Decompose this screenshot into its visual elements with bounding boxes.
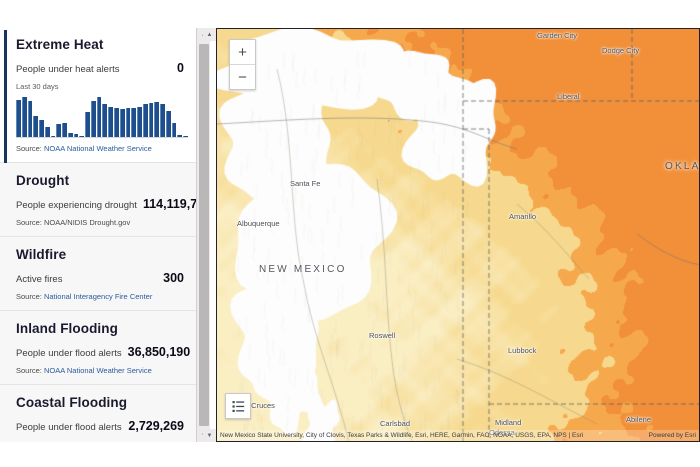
metric-value-wildfire: 300 [163, 271, 184, 285]
chart-bar [183, 136, 188, 137]
metric-value-heat: 0 [177, 61, 184, 75]
page-scroll-down-arrow-icon[interactable]: ▼ [203, 429, 216, 442]
chart-bar [97, 97, 102, 137]
metric-row-inland-flooding: People under flood alerts 36,850,190 [16, 345, 184, 359]
chart-bar [108, 107, 113, 137]
page-scroll-up-arrow-icon[interactable]: ▲ [203, 28, 216, 41]
sidebar-card-extreme-heat[interactable]: Extreme Heat People under heat alerts 0 … [0, 28, 196, 163]
metric-value-inland-flooding: 36,850,190 [128, 345, 191, 359]
chart-bar [85, 112, 90, 137]
chart-bar [131, 108, 136, 137]
source-link-nifc[interactable]: National Interagency Fire Center [44, 292, 152, 301]
source-prefix: Source: [16, 144, 44, 153]
chart-bar [172, 123, 177, 137]
map-zoom-controls[interactable]: + − [229, 39, 256, 90]
chart-bar [160, 104, 165, 137]
zoom-in-button[interactable]: + [230, 40, 255, 65]
metric-label-heat: People under heat alerts [16, 64, 120, 75]
sidebar-card-drought[interactable]: Drought People experiencing drought 114,… [0, 163, 196, 237]
scrollbar-thumb[interactable] [199, 44, 209, 426]
map-attribution-bar: New Mexico State University, City of Clo… [217, 430, 699, 441]
metric-label-drought: People experiencing drought [16, 200, 137, 211]
sidebar-scrollbar[interactable]: ▲ ▼ [196, 28, 210, 442]
hazard-map[interactable]: + − New Mexico State University, City of… [216, 28, 700, 442]
source-inland-flooding: Source: NOAA National Weather Service [16, 366, 184, 375]
metric-row-heat: People under heat alerts 0 [16, 61, 184, 75]
chart-bar [22, 97, 27, 137]
chart-bar [177, 135, 182, 137]
chart-bar [74, 134, 79, 137]
chart-bar [166, 111, 171, 137]
source-name-drought: NOAA/NIDIS Drought.gov [44, 218, 130, 227]
chart-bar [39, 120, 44, 137]
card-title-coastal-flooding: Coastal Flooding [16, 395, 184, 410]
chart-bar [114, 108, 119, 137]
source-link-nws-flood[interactable]: NOAA National Weather Service [44, 366, 152, 375]
metric-label-coastal-flooding: People under flood alerts [16, 422, 122, 433]
attribution-sources: New Mexico State University, City of Clo… [220, 432, 583, 439]
source-prefix: Source: [16, 366, 44, 375]
card-title-extreme-heat: Extreme Heat [16, 37, 184, 52]
sidebar-card-coastal-flooding[interactable]: Coastal Flooding People under flood aler… [0, 385, 196, 442]
chart-bar [154, 102, 159, 137]
source-drought: Source: NOAA/NIDIS Drought.gov [16, 218, 184, 227]
map-state-label: NEW MEXICO [259, 264, 347, 275]
metric-row-wildfire: Active fires 300 [16, 271, 184, 285]
map-state-label: OKLA [665, 161, 700, 172]
chart-bar [126, 108, 131, 137]
chart-bar [51, 136, 56, 137]
layers-list-icon [232, 400, 245, 413]
chart-bar [120, 109, 125, 137]
chart-bar [137, 107, 142, 137]
chart-bar [16, 100, 21, 137]
source-prefix: Source: [16, 218, 44, 227]
chart-bar [68, 133, 73, 137]
metric-label-inland-flooding: People under flood alerts [16, 348, 122, 359]
chart-bar [79, 136, 84, 137]
chart-bar [143, 104, 148, 137]
sidebar-card-wildfire[interactable]: Wildfire Active fires 300 Source: Nation… [0, 237, 196, 311]
source-extreme-heat: Source: NOAA National Weather Service [16, 144, 184, 153]
chart-bar [45, 127, 50, 138]
card-title-wildfire: Wildfire [16, 247, 184, 262]
source-prefix: Source: [16, 292, 44, 301]
metric-row-coastal-flooding: People under flood alerts 2,729,269 [16, 419, 184, 433]
chart-bar [56, 124, 61, 137]
metric-value-coastal-flooding: 2,729,269 [128, 419, 184, 433]
map-legend-button[interactable] [225, 393, 251, 419]
map-raster-layer [217, 29, 700, 442]
chart-bar [62, 123, 67, 137]
metric-label-wildfire: Active fires [16, 274, 62, 285]
chart-sublabel-last30days: Last 30 days [16, 82, 184, 91]
chart-bar [149, 103, 154, 137]
metric-value-drought: 114,119,787 [143, 197, 196, 211]
metric-row-drought: People experiencing drought 114,119,787 [16, 197, 184, 211]
card-title-drought: Drought [16, 173, 184, 188]
chart-bar [33, 116, 38, 137]
source-wildfire: Source: National Interagency Fire Center [16, 292, 184, 301]
heat-alerts-bar-chart [16, 95, 188, 138]
powered-by-esri: Powered by Esri [649, 432, 696, 439]
card-title-inland-flooding: Inland Flooding [16, 321, 184, 336]
chart-bar [91, 101, 96, 137]
source-link-nws[interactable]: NOAA National Weather Service [44, 144, 152, 153]
hazard-sidebar[interactable]: Extreme Heat People under heat alerts 0 … [0, 28, 196, 442]
zoom-out-button[interactable]: − [230, 65, 255, 89]
chart-bar [28, 101, 33, 137]
sidebar-card-inland-flooding[interactable]: Inland Flooding People under flood alert… [0, 311, 196, 385]
chart-bar [102, 104, 107, 137]
